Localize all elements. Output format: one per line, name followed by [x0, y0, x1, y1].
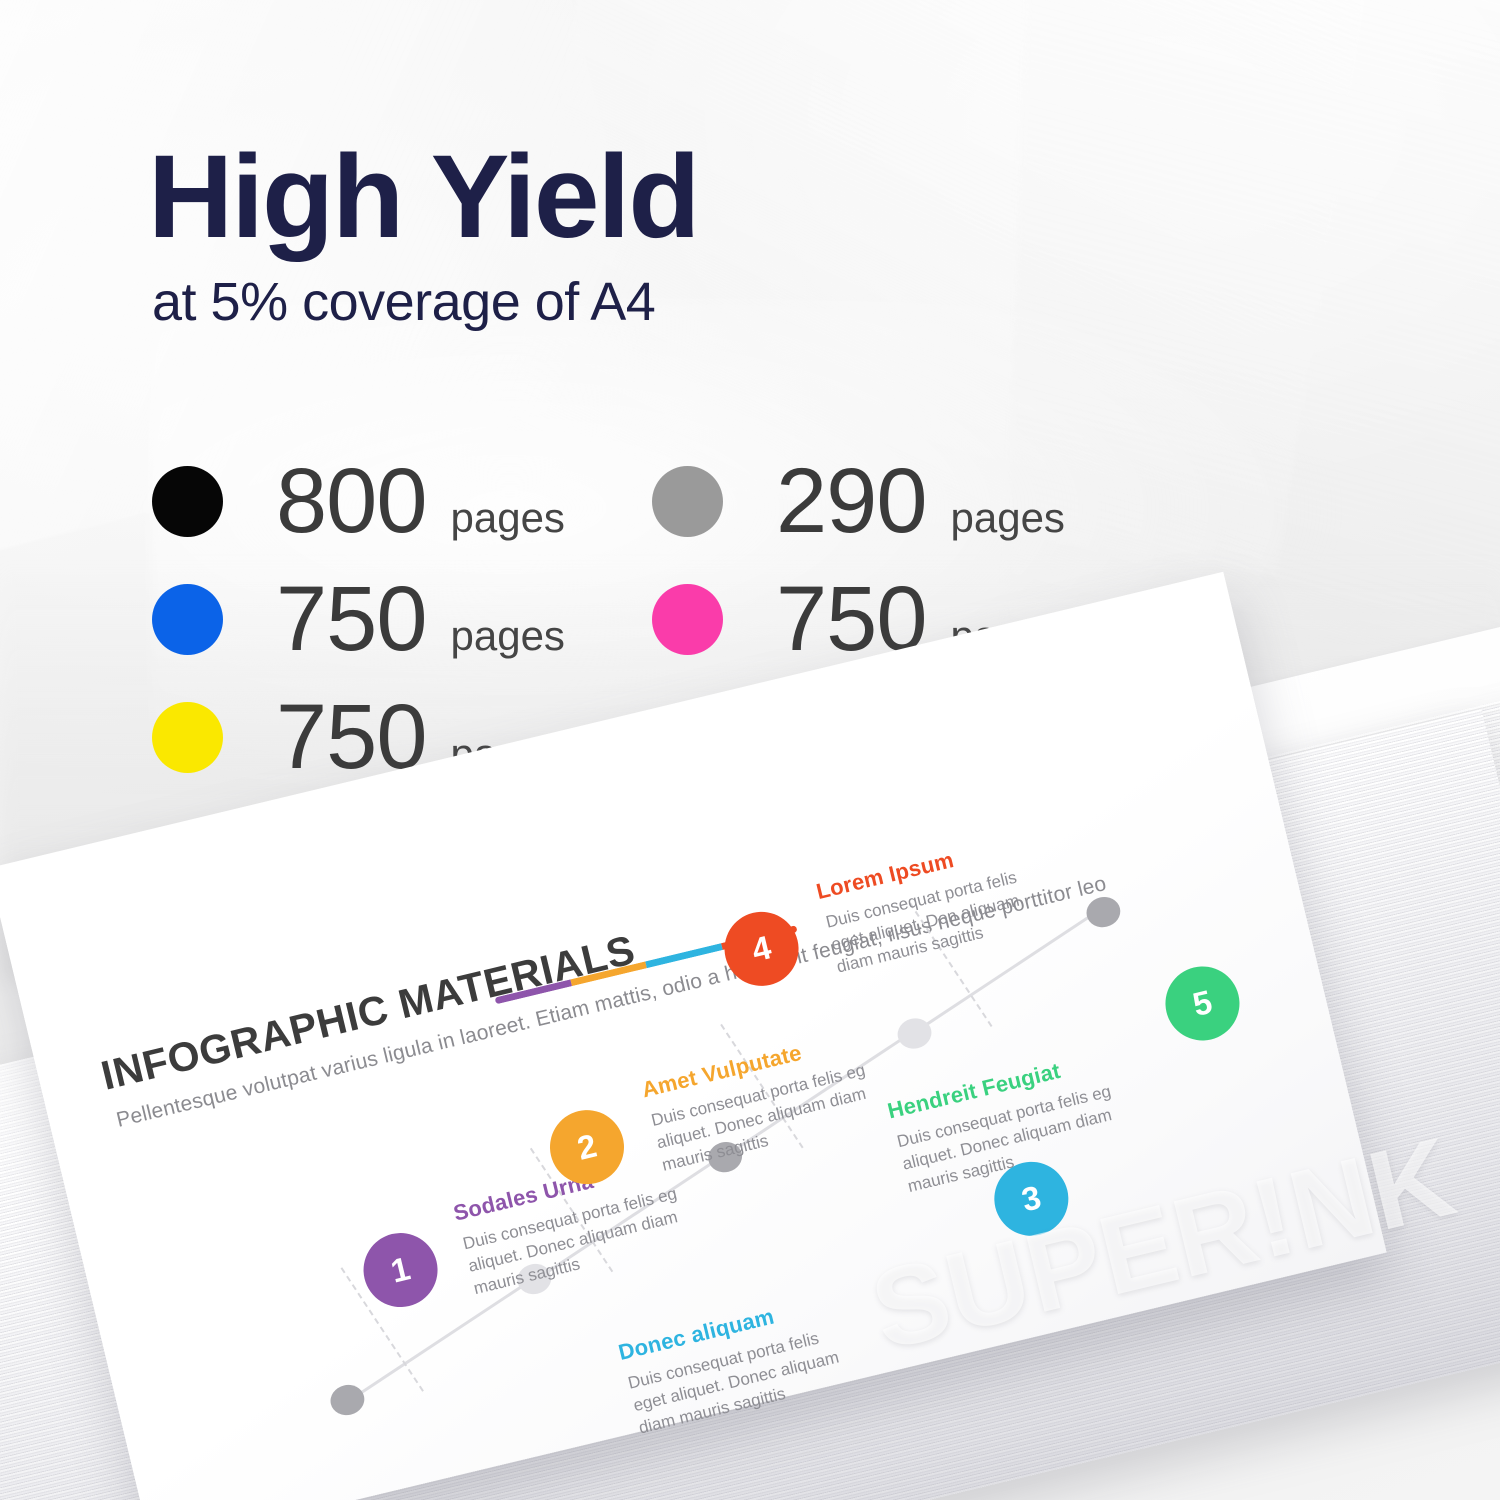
yield-unit: pages — [451, 615, 565, 657]
yellow-toner-dot-icon — [152, 702, 223, 773]
timeline-joint — [327, 1381, 367, 1418]
grey-toner-dot-icon — [652, 466, 723, 537]
headline-block: High Yield at 5% coverage of A4 — [148, 138, 1048, 331]
page-title: High Yield — [148, 138, 1048, 256]
magenta-toner-dot-icon — [652, 584, 723, 655]
yield-item-cyan: 750pages — [152, 573, 652, 665]
yield-value: 800 — [276, 455, 427, 547]
yield-unit: pages — [951, 497, 1065, 539]
black-toner-dot-icon — [152, 466, 223, 537]
yield-text: 290pages — [776, 455, 1065, 547]
yield-value: 290 — [776, 455, 927, 547]
yield-text: 800pages — [276, 455, 565, 547]
yield-value: 750 — [276, 573, 427, 665]
yield-item-black: 800pages — [152, 455, 652, 547]
yield-item-grey: 290pages — [652, 455, 1132, 547]
poster-canvas: High Yield at 5% coverage of A4 800pages… — [0, 0, 1500, 1500]
infographic-badge-1[interactable]: 1 — [356, 1225, 445, 1314]
yield-text: 750pages — [276, 573, 565, 665]
yield-unit: pages — [451, 497, 565, 539]
yield-row: 800pages290pages — [152, 455, 1132, 573]
accent-bar-segment — [645, 943, 722, 968]
infographic-badge-5[interactable]: 5 — [1158, 959, 1247, 1048]
page-subtitle: at 5% coverage of A4 — [152, 274, 1048, 331]
cyan-toner-dot-icon — [152, 584, 223, 655]
